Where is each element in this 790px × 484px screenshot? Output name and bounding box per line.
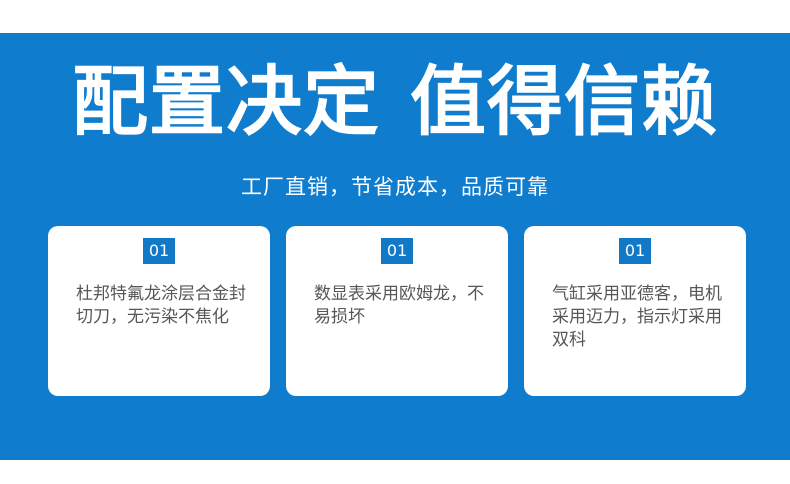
headline-part-1: 配置决定 xyxy=(72,57,380,146)
feature-card[interactable]: 01 气缸采用亚德客，电机采用迈力，指示灯采用双科 xyxy=(524,226,746,396)
card-number-badge: 01 xyxy=(143,238,175,264)
promo-banner: 配置决定值得信赖 工厂直销，节省成本，品质可靠 01 杜邦特氟龙涂层合金封切刀，… xyxy=(0,33,790,460)
feature-card[interactable]: 01 数显表采用欧姆龙，不易损坏 xyxy=(286,226,508,396)
page-subtitle: 工厂直销，节省成本，品质可靠 xyxy=(0,172,790,202)
page-title: 配置决定值得信赖 xyxy=(0,59,790,145)
feature-card-list: 01 杜邦特氟龙涂层合金封切刀，无污染不焦化 01 数显表采用欧姆龙，不易损坏 … xyxy=(48,226,746,396)
card-number-badge: 01 xyxy=(619,238,651,264)
feature-card[interactable]: 01 杜邦特氟龙涂层合金封切刀，无污染不焦化 xyxy=(48,226,270,396)
card-description: 气缸采用亚德客，电机采用迈力，指示灯采用双科 xyxy=(552,283,730,352)
card-number-badge: 01 xyxy=(381,238,413,264)
card-description: 杜邦特氟龙涂层合金封切刀，无污染不焦化 xyxy=(76,283,254,329)
card-description: 数显表采用欧姆龙，不易损坏 xyxy=(314,283,492,329)
headline-part-2: 值得信赖 xyxy=(410,57,718,146)
